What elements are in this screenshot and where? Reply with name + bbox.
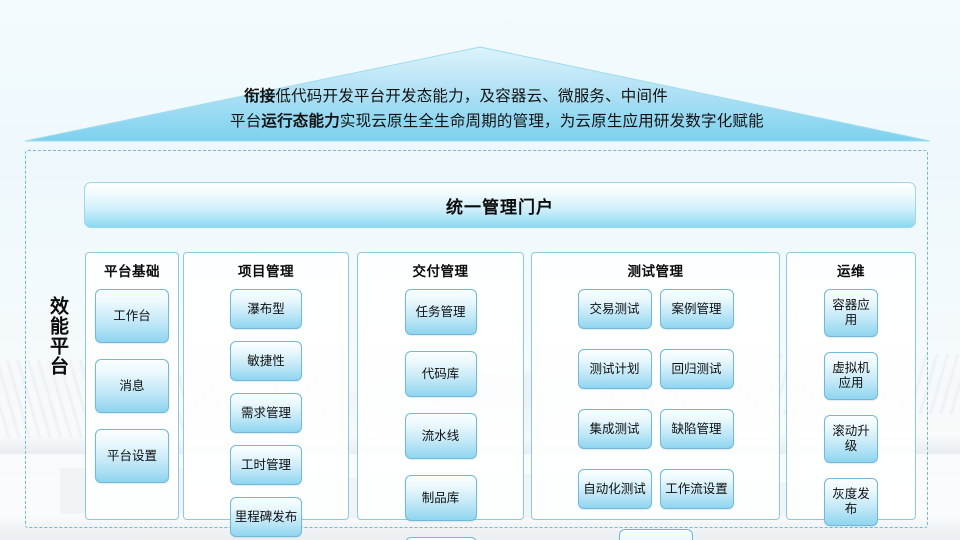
tile-item[interactable]: 里程碑发布 xyxy=(230,497,302,537)
tile-item[interactable]: 敏捷性 xyxy=(230,341,302,381)
caption-rest-1: 低代码开发平台开发态能力，及容器云、微服务、中间件 xyxy=(275,88,668,105)
tile-item[interactable]: 回归测试 xyxy=(660,349,734,389)
tile-item[interactable]: 案例管理 xyxy=(660,289,734,329)
caption-pre-2: 平台 xyxy=(230,113,261,130)
tile-item[interactable]: 集成测试 xyxy=(578,409,652,449)
group-tiles: 工作台 消息 平台设置 xyxy=(86,289,178,483)
group-tiles: 交易测试 案例管理 测试计划 回归测试 集成测试 缺陷管理 自动化测试 工作流设… xyxy=(532,289,779,540)
group-tiles: 瀑布型 敏捷性 需求管理 工时管理 里程碑发布 项目代码 效能报表 分析视图 xyxy=(184,289,348,540)
tile-item[interactable]: 平台设置 xyxy=(95,429,169,483)
tile-item[interactable]: 滚动升级 xyxy=(824,415,878,463)
roof-triangle xyxy=(0,0,960,160)
tile-item[interactable]: 工作流设置 xyxy=(660,469,734,509)
diagram-canvas: 衔接低代码开发平台开发态能力，及容器云、微服务、中间件 平台运行态能力实现云原生… xyxy=(0,0,960,540)
tile-item[interactable]: 交易测试 xyxy=(578,289,652,329)
tile-item[interactable]: 缺陷管理 xyxy=(660,409,734,449)
tile-item[interactable]: 测试计划 xyxy=(578,349,652,389)
group-title: 项目管理 xyxy=(184,260,348,280)
tile-item[interactable]: 工时管理 xyxy=(230,445,302,485)
tile-item[interactable]: 工作台 xyxy=(95,289,169,343)
group-tiles: 任务管理 代码库 流水线 制品库 资源定义 环境管理 xyxy=(358,289,523,540)
group-tiles: 容器应用 虚拟机应用 滚动升级 灰度发布 应用监控 应用告警 xyxy=(787,289,915,540)
tile-item[interactable]: 任务管理 xyxy=(405,289,477,335)
caption-rest-2: 实现云原生全生命周期的管理，为云原生应用研发数字化赋能 xyxy=(340,113,764,130)
tile-item[interactable]: 需求管理 xyxy=(230,393,302,433)
platform-side-label: 效能平台 xyxy=(42,296,72,376)
group-title: 测试管理 xyxy=(532,260,779,280)
tile-item[interactable]: 制品库 xyxy=(405,475,477,521)
tile-item[interactable]: 代码库 xyxy=(405,351,477,397)
caption-bold-2: 运行态能力 xyxy=(261,113,340,130)
unified-portal-title: 统一管理门户 xyxy=(446,193,554,218)
tile-item[interactable]: 灰度发布 xyxy=(824,478,878,526)
group-panel-project-management: 项目管理 瀑布型 敏捷性 需求管理 工时管理 里程碑发布 项目代码 效能报表 分… xyxy=(183,252,349,520)
caption-bold-1: 衔接 xyxy=(244,88,275,105)
group-panel-delivery-management: 交付管理 任务管理 代码库 流水线 制品库 资源定义 环境管理 xyxy=(357,252,524,520)
tile-item[interactable]: 瀑布型 xyxy=(230,289,302,329)
tile-item[interactable]: 虚拟机应用 xyxy=(824,352,878,400)
group-title: 平台基础 xyxy=(86,260,178,280)
tile-item[interactable]: 消息 xyxy=(95,359,169,413)
roof-caption: 衔接低代码开发平台开发态能力，及容器云、微服务、中间件 平台运行态能力实现云原生… xyxy=(230,84,850,134)
unified-portal-banner[interactable]: 统一管理门户 xyxy=(84,182,916,228)
group-panel-platform-base: 平台基础 工作台 消息 平台设置 xyxy=(85,252,179,520)
group-title: 运维 xyxy=(787,260,915,280)
tile-item[interactable]: 自动化测试 xyxy=(578,469,652,509)
group-title: 交付管理 xyxy=(358,260,523,280)
tile-item[interactable]: 流水线 xyxy=(405,413,477,459)
group-panel-test-management: 测试管理 交易测试 案例管理 测试计划 回归测试 集成测试 缺陷管理 自动化测试… xyxy=(531,252,780,520)
group-panel-operations: 运维 容器应用 虚拟机应用 滚动升级 灰度发布 应用监控 应用告警 xyxy=(786,252,916,520)
tile-item[interactable]: 容器应用 xyxy=(824,289,878,337)
tile-item[interactable]: 测试发布 xyxy=(619,529,693,540)
